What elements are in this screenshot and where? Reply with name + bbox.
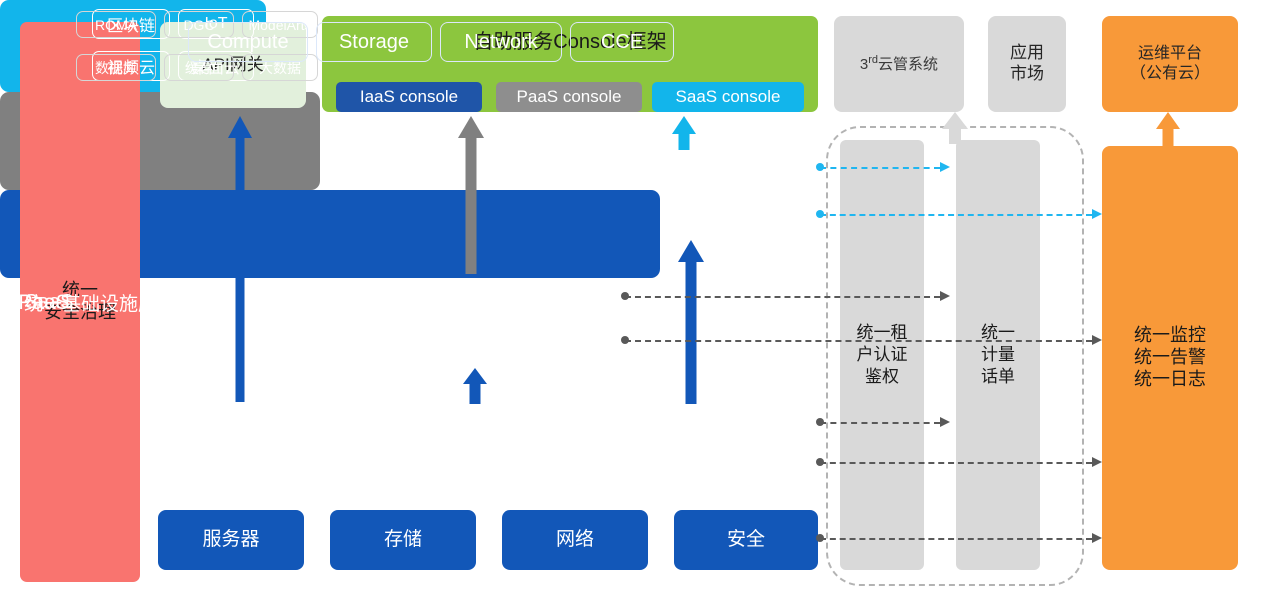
base-box-storage[interactable]: 存储: [330, 510, 476, 570]
unified-infrastructure-services-bar: 统一基础设施服务 Compute Storage Network CCE: [0, 190, 660, 278]
paas-console-chip[interactable]: PaaS console: [496, 82, 642, 112]
third-cloud-label: 3rd云管系统: [860, 54, 938, 74]
arrow-ops-panel-to-ops-top: [1156, 112, 1180, 148]
saas-console-chip[interactable]: SaaS console: [652, 82, 804, 112]
arrowhead-infra-to-auth: [940, 417, 950, 427]
iaas-console-chip[interactable]: IaaS console: [336, 82, 482, 112]
dashed-infra-to-ops: [820, 462, 1092, 464]
arrowhead-paas-to-auth: [940, 291, 950, 301]
arrow-paas-to-console: [458, 116, 484, 274]
dashed-paas-to-ops: [625, 340, 1092, 342]
infra-chip-network[interactable]: Network: [440, 22, 562, 62]
infra-chip-compute[interactable]: Compute: [188, 22, 308, 62]
dashed-saas-to-auth: [820, 167, 940, 169]
base-box-security[interactable]: 安全: [674, 510, 818, 570]
infra-chip-storage[interactable]: Storage: [316, 22, 432, 62]
base-box-network[interactable]: 网络: [502, 510, 648, 570]
application-market-box: 应用 市场: [988, 16, 1066, 112]
infra-chip-cce[interactable]: CCE: [570, 22, 674, 62]
base-box-server[interactable]: 服务器: [158, 510, 304, 570]
arrowhead-saas-to-auth: [940, 162, 950, 172]
arrowhead-saas-to-ops: [1092, 209, 1102, 219]
arrowhead-infra-to-ops: [1092, 457, 1102, 467]
arrowhead-paas-to-ops: [1092, 335, 1102, 345]
arrow-infra-to-saas: [678, 240, 704, 404]
dashed-paas-to-auth: [625, 296, 940, 298]
unified-monitoring-panel: 统一监控 统一告警 统一日志: [1102, 146, 1238, 570]
third-party-cloud-management-box: 3rd云管系统: [834, 16, 964, 112]
dashed-base-to-ops: [820, 538, 1092, 540]
dashed-infra-to-auth: [820, 422, 940, 424]
dashed-saas-to-ops: [820, 214, 1092, 216]
ops-platform-public-cloud-box: 运维平台 （公有云）: [1102, 16, 1238, 112]
arrow-saas-to-console: [672, 116, 696, 150]
arrow-infra-to-paas: [463, 368, 487, 404]
arrow-infra-to-api-gateway: [228, 116, 252, 402]
arrow-shared-to-third-cloud: [942, 112, 968, 144]
arrowhead-base-to-ops: [1092, 533, 1102, 543]
unified-tenant-auth-column: 统一租 户认证 鉴权: [840, 140, 924, 570]
architecture-diagram: 统一 安全治理 API网关 自助服务Console框架 IaaS console…: [0, 0, 1265, 605]
unified-metering-billing-column: 统一 计量 话单: [956, 140, 1040, 570]
